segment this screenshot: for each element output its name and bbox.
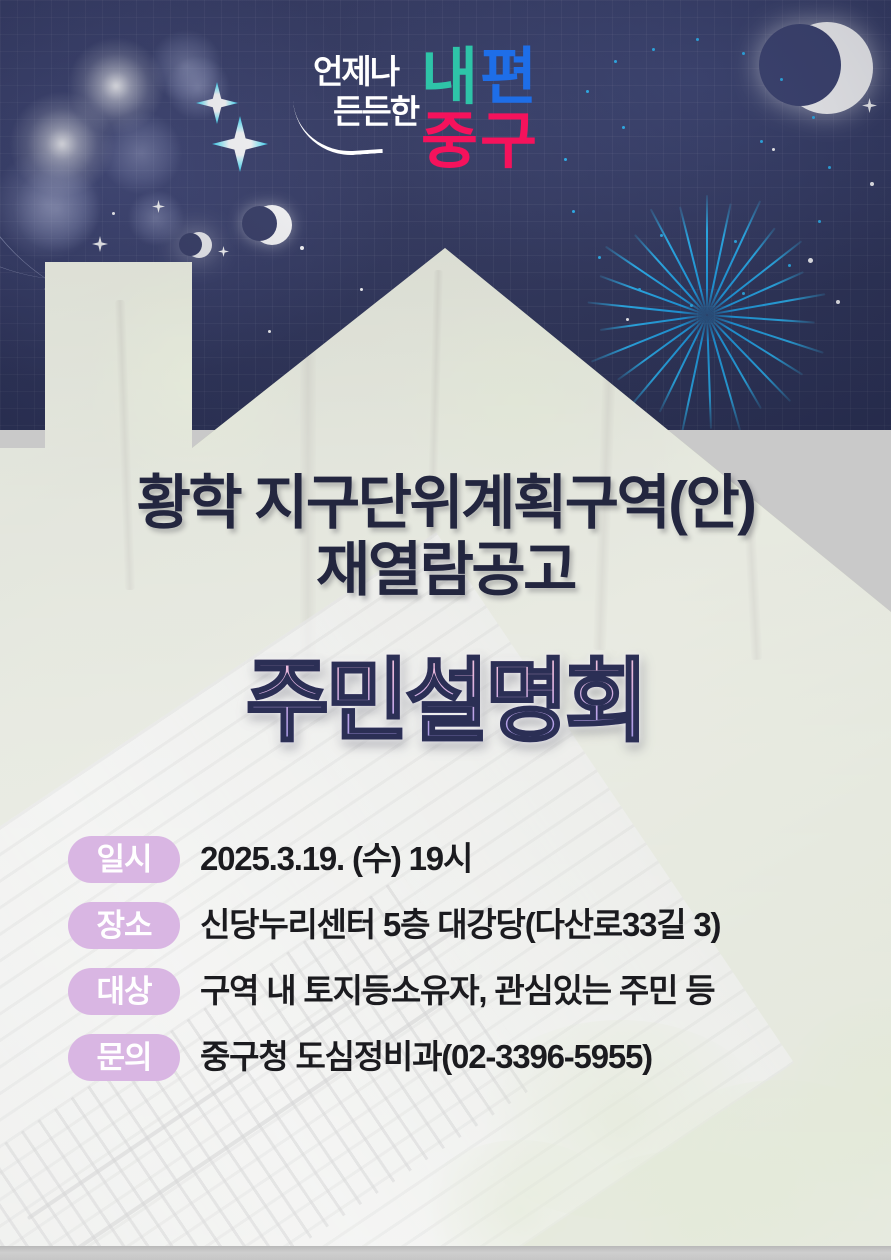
logo-brand-row-2: 중 구 [421,110,563,174]
subtitle-text: 주민설명회 [246,650,645,754]
logo-brand-row-1: 내 편 [421,46,563,110]
info-list: 일시 2025.3.19. (수) 19시 장소 신당누리센터 5층 대강당(다… [68,828,868,1092]
logo-char-jung: 중 [421,110,478,174]
info-label-jangso: 장소 [68,902,180,949]
page-title: 황학 지구단위계획구역(안) 재열람공고 [0,470,891,604]
logo-brand: 내 편 중 구 [421,46,563,181]
page-subtitle: 주민설명회 [0,650,891,754]
info-label-munui: 문의 [68,1034,180,1081]
info-row-munui: 문의 중구청 도심정비과(02-3396-5955) [68,1026,868,1088]
logo-tagline: 언제나 든든한 [297,54,425,172]
info-label-ilsi: 일시 [68,836,180,883]
info-value-jangso: 신당누리센터 5층 대강당(다산로33길 3) [200,905,720,945]
logo-tagline-line2: 든든한 [333,94,418,130]
poster-canvas: 언제나 든든한 내 편 중 구 황학 지구단위계획구역(안) 재열람공고 주민설… [0,0,891,1260]
info-value-daesang: 구역 내 토지등소유자, 관심있는 주민 등 [200,971,714,1011]
logo-char-pyeon: 편 [480,46,537,110]
title-line-1: 황학 지구단위계획구역(안) [0,470,891,537]
info-row-daesang: 대상 구역 내 토지등소유자, 관심있는 주민 등 [68,960,868,1022]
title-line-2: 재열람공고 [0,537,891,604]
junggu-logo: 언제나 든든한 내 편 중 구 [297,46,562,181]
info-row-jangso: 장소 신당누리센터 5층 대강당(다산로33길 3) [68,894,868,956]
info-row-ilsi: 일시 2025.3.19. (수) 19시 [68,828,868,890]
info-label-daesang: 대상 [68,968,180,1015]
bottom-frame-border [0,1246,891,1260]
logo-char-nae: 내 [421,46,478,110]
info-value-ilsi: 2025.3.19. (수) 19시 [200,839,472,879]
logo-tagline-line1: 언제나 [313,54,398,90]
logo-char-gu: 구 [480,110,537,174]
info-value-munui: 중구청 도심정비과(02-3396-5955) [200,1037,652,1077]
